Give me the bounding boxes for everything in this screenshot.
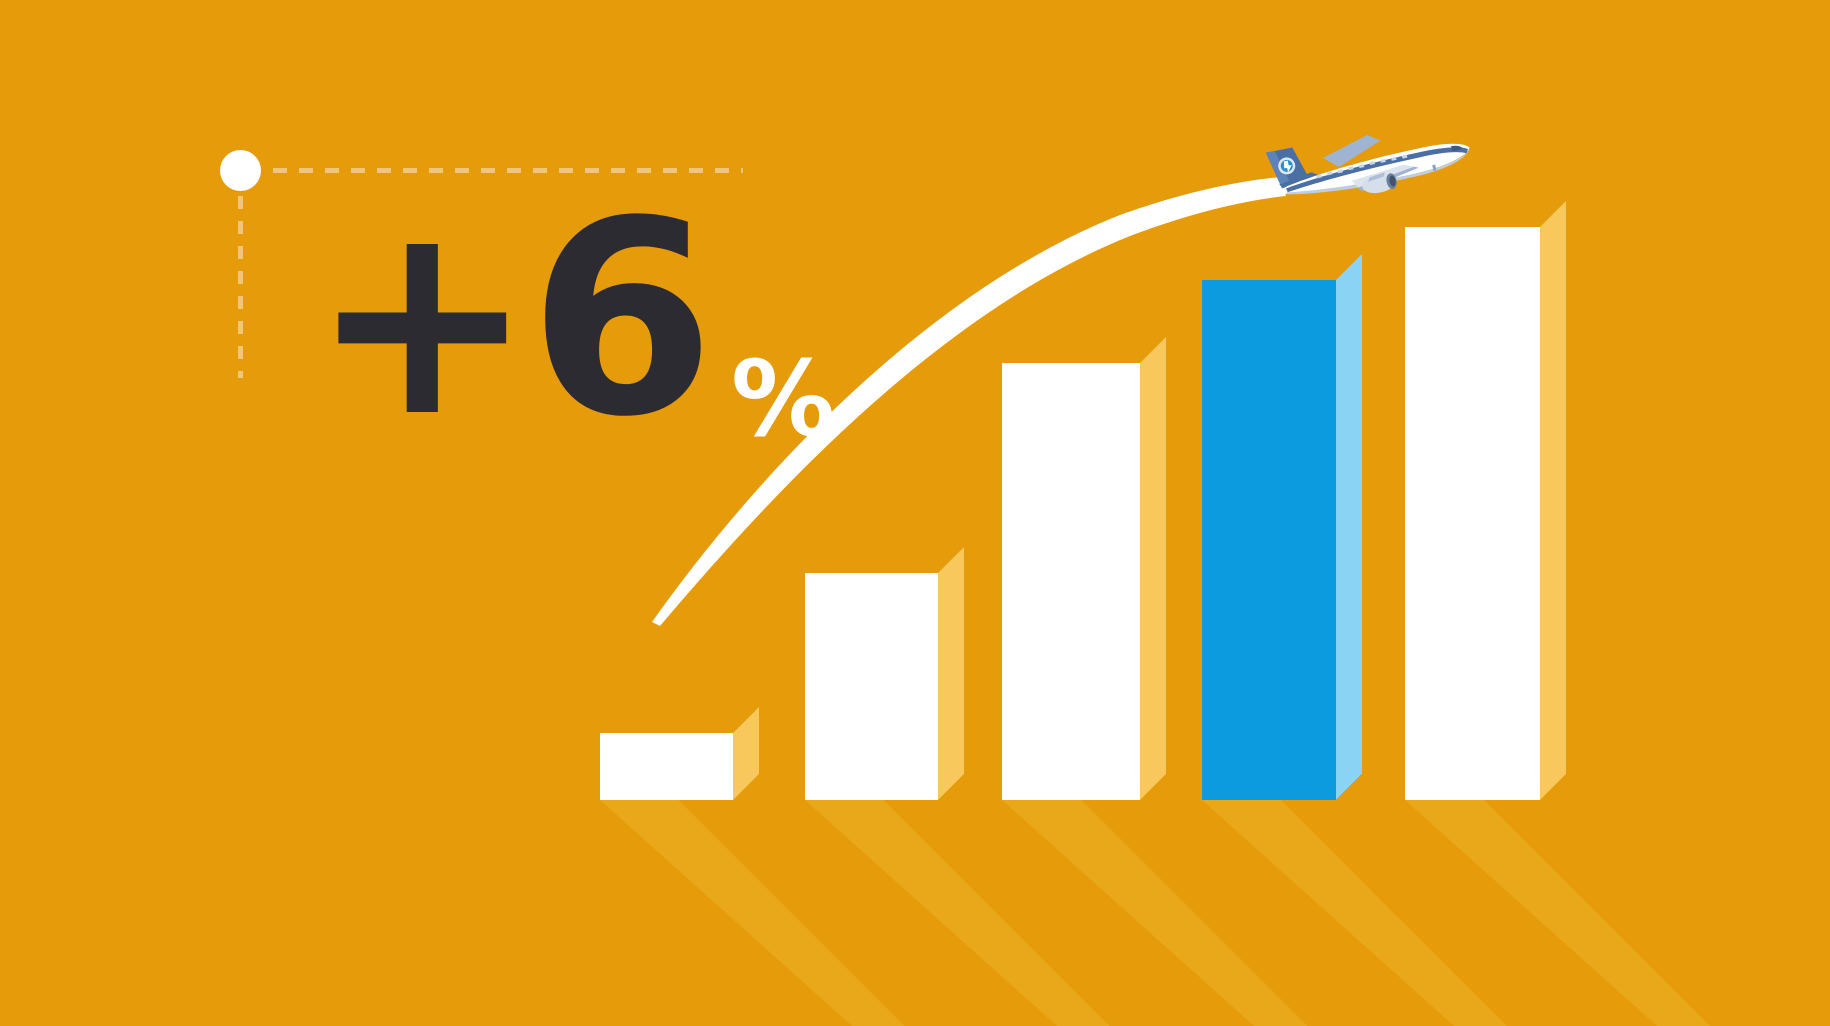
airplane-icon: [1266, 114, 1475, 212]
stat-block: +6 %: [310, 205, 835, 451]
stat-unit: %: [731, 347, 835, 451]
circle-marker-icon: [220, 150, 261, 191]
infographic-canvas: +6 %: [0, 0, 1830, 1026]
stat-value: +6: [310, 205, 709, 435]
vertical-guide-line: [238, 196, 243, 378]
airplane-illustration: [0, 0, 1830, 1026]
